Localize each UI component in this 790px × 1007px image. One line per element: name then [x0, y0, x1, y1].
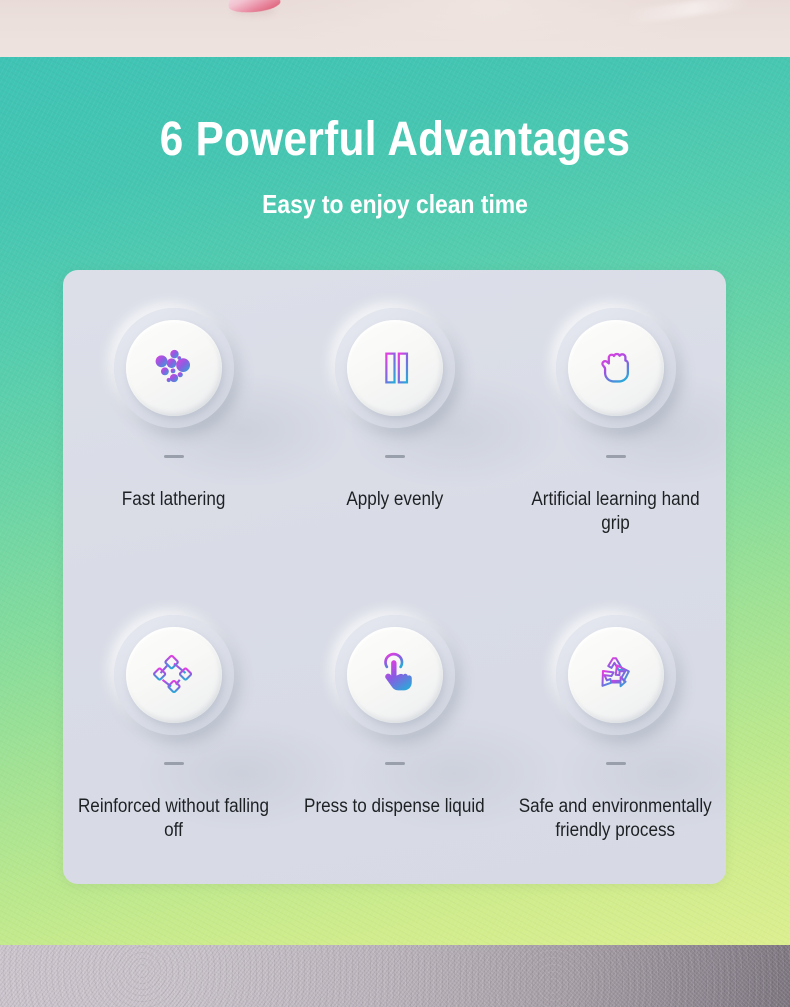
feature-label: Fast lathering — [122, 488, 226, 512]
feature-item[interactable]: Artificial learning hand grip — [505, 270, 726, 577]
feature-label: Press to dispense liquid — [304, 795, 485, 819]
concrete-texture — [0, 945, 790, 1007]
bars-icon — [372, 345, 418, 391]
product-feature-infographic: 6 Powerful Advantages Easy to enjoy clea… — [0, 0, 790, 1007]
feature-icon-plate — [347, 627, 443, 723]
feature-icon-button[interactable] — [335, 308, 455, 428]
feature-item[interactable]: Safe and environmentally friendly proces… — [505, 577, 726, 884]
fist-grip-icon — [593, 345, 639, 391]
light-streak-decoration — [628, 0, 749, 24]
feature-icon-plate — [347, 320, 443, 416]
node-diamond-icon — [151, 652, 197, 698]
feature-icon-plate — [126, 320, 222, 416]
features-panel: Fast lathering — [63, 270, 726, 884]
feature-divider — [385, 762, 405, 765]
heading-block: 6 Powerful Advantages Easy to enjoy clea… — [0, 57, 790, 220]
feature-icon-button[interactable] — [335, 615, 455, 735]
bottom-photo-strip — [0, 945, 790, 1007]
feature-divider — [385, 455, 405, 458]
feature-divider — [606, 455, 626, 458]
feature-icon-button[interactable] — [556, 615, 676, 735]
page-subtitle: Easy to enjoy clean time — [47, 165, 742, 220]
feature-icon-plate — [568, 627, 664, 723]
feature-label: Reinforced without falling off — [77, 795, 271, 843]
feature-icon-button[interactable] — [114, 308, 234, 428]
feature-label: Safe and environmentally friendly proces… — [519, 795, 712, 843]
bubbles-icon — [151, 345, 197, 391]
feature-icon-button[interactable] — [556, 308, 676, 428]
page-title: 6 Powerful Advantages — [47, 57, 742, 165]
tap-hand-icon — [372, 652, 418, 698]
feature-divider — [164, 762, 184, 765]
feature-label: Artificial learning hand grip — [519, 488, 713, 536]
feature-icon-plate — [126, 627, 222, 723]
feature-icon-button[interactable] — [114, 615, 234, 735]
recycle-icon — [593, 652, 639, 698]
features-grid: Fast lathering — [63, 270, 726, 884]
feature-item[interactable]: Reinforced without falling off — [63, 577, 284, 884]
feature-item[interactable]: Apply evenly — [284, 270, 505, 577]
feature-item[interactable]: Fast lathering — [63, 270, 284, 577]
feature-item[interactable]: Press to dispense liquid — [284, 577, 505, 884]
feature-divider — [164, 455, 184, 458]
top-photo-strip — [0, 0, 790, 57]
feature-divider — [606, 762, 626, 765]
feature-label: Apply evenly — [346, 488, 443, 512]
feature-icon-plate — [568, 320, 664, 416]
